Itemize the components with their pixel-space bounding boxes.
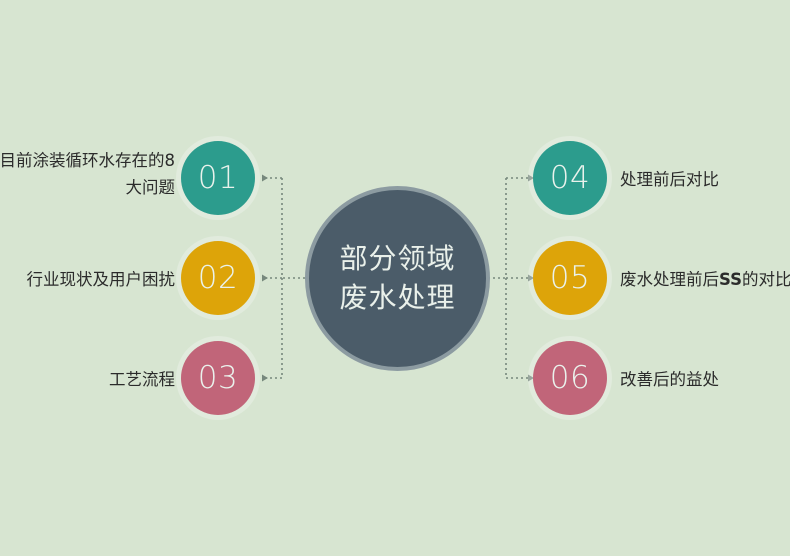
node-badge-01[interactable]: 01: [181, 141, 255, 215]
node-label-05-suffix: 的对比: [742, 270, 790, 289]
node-badge-02[interactable]: 02: [181, 241, 255, 315]
node-label-03: 工艺流程: [0, 367, 175, 394]
node-label-02: 行业现状及用户困扰: [0, 267, 175, 294]
node-label-04: 处理前后对比: [620, 167, 790, 194]
center-hub[interactable]: 部分领域 废水处理: [305, 186, 490, 371]
node-label-05: 废水处理前后SS的对比: [620, 267, 790, 294]
diagram-canvas: 部分领域 废水处理 01 目前涂装循环水存在的8大问题 02 行业现状及用户困扰…: [0, 0, 790, 556]
node-label-05-prefix: 废水处理前后: [620, 270, 719, 289]
node-label-06: 改善后的益处: [620, 367, 790, 394]
node-label-01: 目前涂装循环水存在的8大问题: [0, 148, 175, 201]
node-number-04: 04: [550, 163, 590, 194]
node-badge-04[interactable]: 04: [533, 141, 607, 215]
node-number-02: 02: [198, 263, 238, 294]
node-badge-06[interactable]: 06: [533, 341, 607, 415]
center-hub-title: 部分领域 废水处理: [339, 240, 455, 316]
node-label-05-emphasis: SS: [719, 270, 742, 289]
node-number-01: 01: [198, 163, 238, 194]
node-number-05: 05: [550, 263, 590, 294]
node-number-03: 03: [198, 363, 238, 394]
node-badge-03[interactable]: 03: [181, 341, 255, 415]
node-badge-05[interactable]: 05: [533, 241, 607, 315]
node-number-06: 06: [550, 363, 590, 394]
